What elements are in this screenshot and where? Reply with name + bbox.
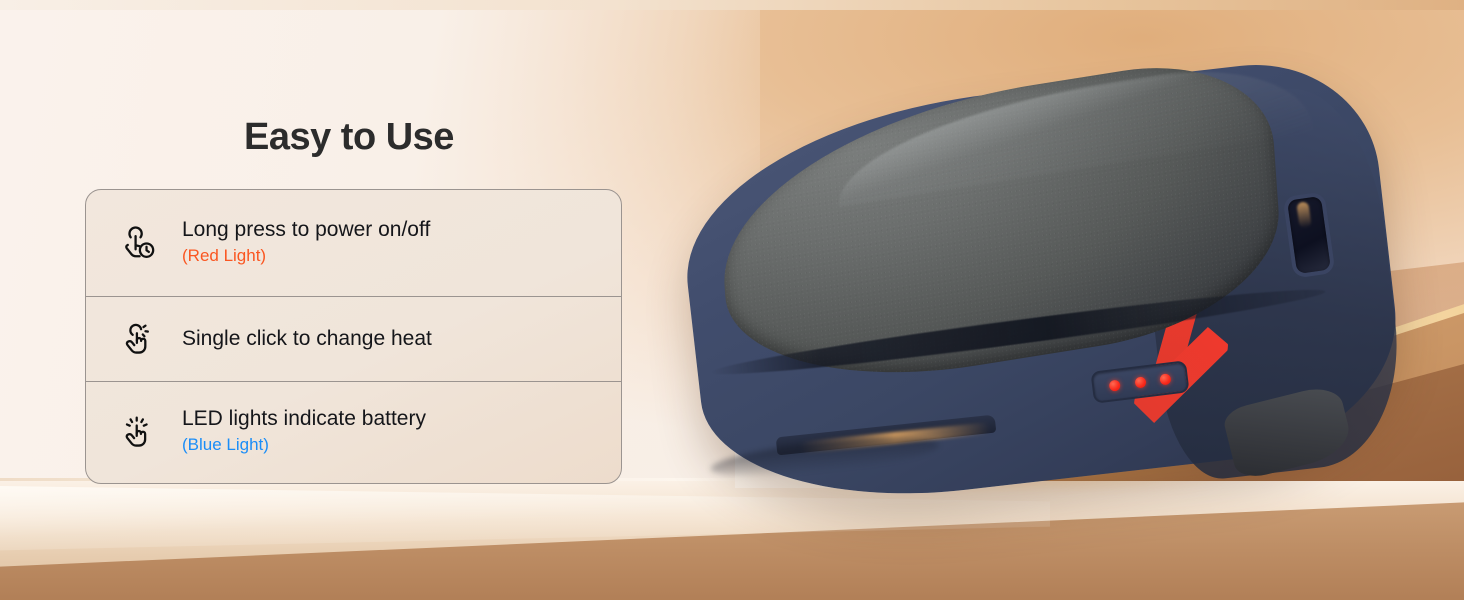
led-light-hand-rays-icon	[108, 404, 170, 460]
feature-row-long-press: Long press to power on/off (Red Light)	[86, 190, 621, 297]
feature-title: LED lights indicate battery	[182, 406, 426, 432]
content-column: Easy to Use Long press to pow	[0, 0, 700, 600]
feature-row-led-battery: LED lights indicate battery (Blue Light)	[86, 382, 621, 481]
promo-banner: Easy to Use Long press to pow	[0, 0, 1464, 600]
feature-title: Single click to change heat	[182, 326, 432, 352]
single-click-hand-tap-icon	[108, 311, 170, 367]
feature-list-card: Long press to power on/off (Red Light)	[85, 189, 622, 484]
product-image	[680, 70, 1420, 490]
led-dot-3	[1159, 373, 1171, 385]
long-press-hand-clock-icon	[108, 215, 170, 271]
led-dot-2	[1134, 376, 1146, 388]
feature-text-block: LED lights indicate battery (Blue Light)	[170, 406, 426, 458]
feature-text-block: Single click to change heat	[170, 326, 432, 352]
feature-subtitle: (Blue Light)	[182, 432, 426, 458]
feature-subtitle: (Red Light)	[182, 243, 430, 269]
feature-title: Long press to power on/off	[182, 217, 430, 243]
feature-text-block: Long press to power on/off (Red Light)	[170, 217, 430, 269]
feature-row-single-click: Single click to change heat	[86, 297, 621, 382]
page-title: Easy to Use	[244, 116, 454, 159]
led-dot-1	[1108, 379, 1120, 391]
